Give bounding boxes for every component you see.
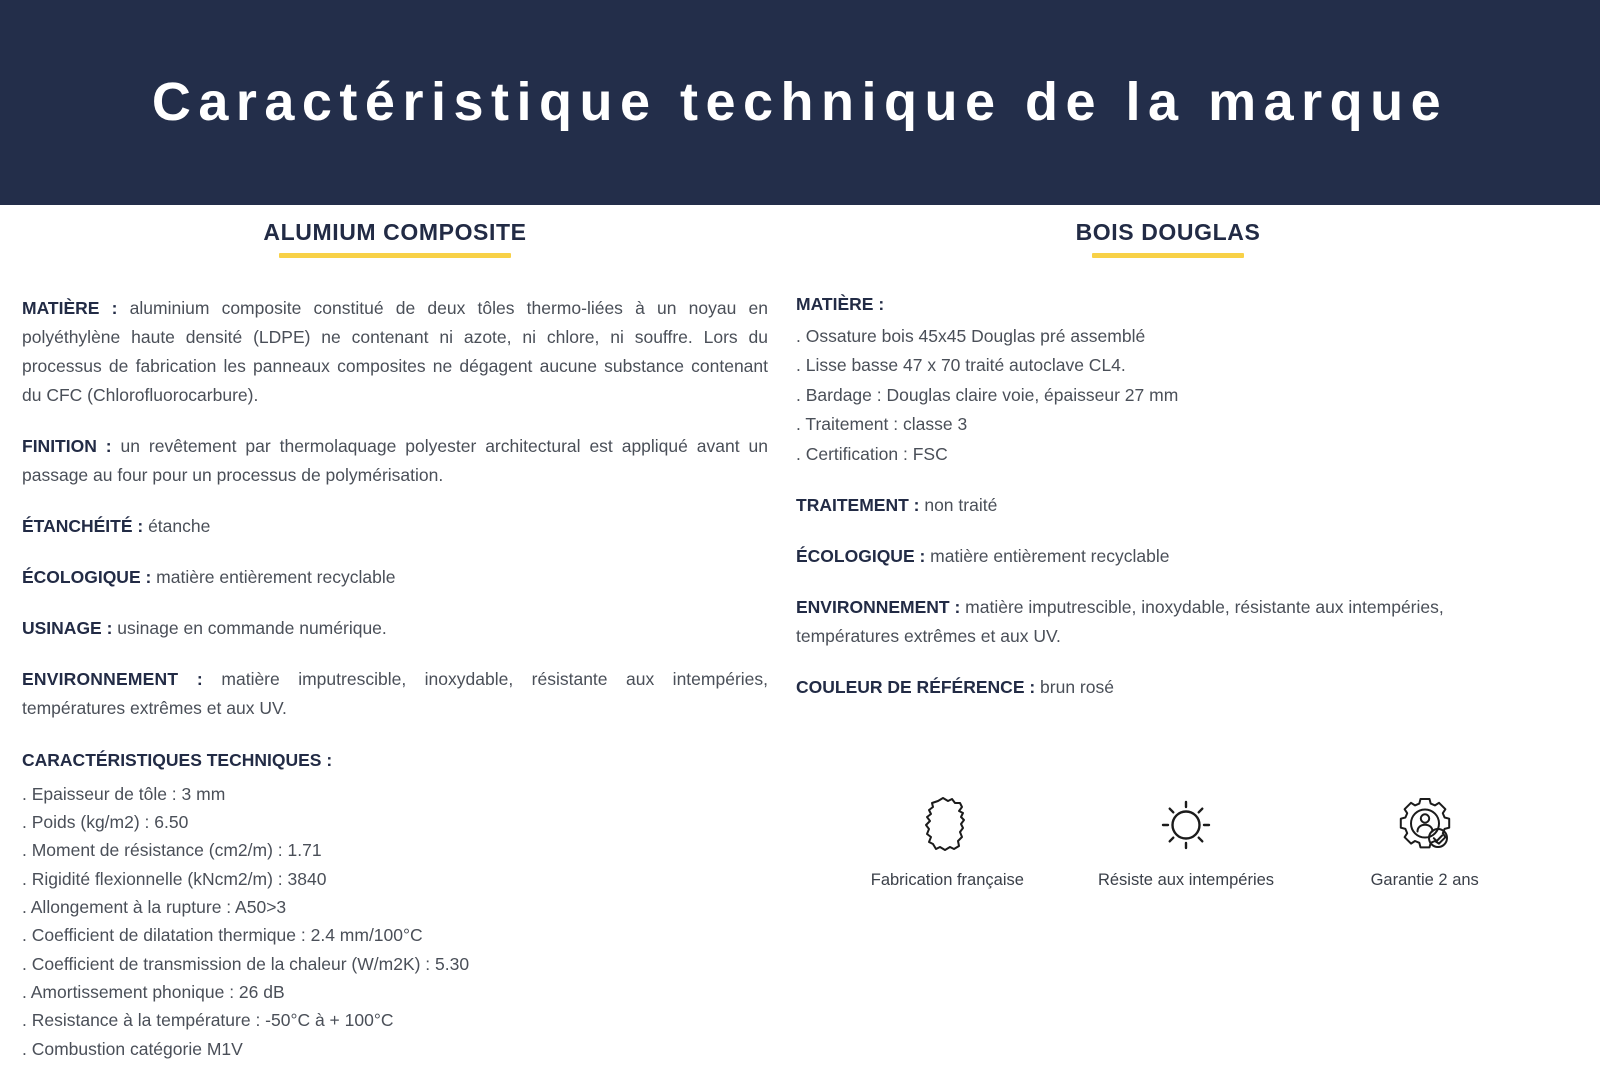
- right-column-heading: BOIS DOUGLAS: [796, 219, 1540, 268]
- badge-garantie-2-ans: Garantie 2 ans: [1315, 794, 1534, 891]
- left-column-heading: ALUMIUM COMPOSITE: [22, 219, 768, 268]
- matiere-block: MATIÈRE : aluminium composite constitué …: [22, 294, 768, 410]
- right-matiere-label: MATIÈRE :: [796, 290, 1540, 318]
- couleur-reference-label: COULEUR DE RÉFÉRENCE :: [796, 677, 1035, 697]
- column-alumium-composite: ALUMIUM COMPOSITE MATIÈRE : aluminium co…: [0, 205, 790, 1085]
- traitement-block: TRAITEMENT : non traité: [796, 491, 1540, 520]
- list-item: . Allongement à la rupture : A50>3: [22, 893, 768, 921]
- right-ecologique-text: matière entièrement recyclable: [925, 546, 1169, 566]
- list-item: . Epaisseur de tôle : 3 mm: [22, 780, 768, 808]
- column-bois-douglas: BOIS DOUGLAS MATIÈRE : . Ossature bois 4…: [790, 205, 1600, 1085]
- right-environnement-block: ENVIRONNEMENT : matière imputrescible, i…: [796, 593, 1540, 651]
- etancheite-label: ÉTANCHÉITÉ :: [22, 516, 143, 536]
- usinage-label: USINAGE :: [22, 618, 112, 638]
- usinage-text: usinage en commande numérique.: [112, 618, 386, 638]
- content-area: ALUMIUM COMPOSITE MATIÈRE : aluminium co…: [0, 205, 1600, 1085]
- list-item: . Combustion catégorie M1V: [22, 1035, 768, 1063]
- right-matiere-list: . Ossature bois 45x45 Douglas pré assemb…: [796, 322, 1540, 469]
- badge-resiste-intemperies: Résiste aux intempéries: [1077, 794, 1296, 891]
- badge-label: Fabrication française: [838, 870, 1057, 891]
- traitement-label: TRAITEMENT :: [796, 495, 919, 515]
- list-item: . Certification : FSC: [796, 440, 1540, 469]
- list-item: . Resistance à la température : -50°C à …: [22, 1006, 768, 1034]
- list-item: . Lisse basse 47 x 70 traité autoclave C…: [796, 351, 1540, 380]
- list-item: . Moment de résistance (cm2/m) : 1.71: [22, 836, 768, 864]
- environnement-block: ENVIRONNEMENT : matière imputrescible, i…: [22, 665, 768, 723]
- left-heading-underline: [279, 253, 511, 258]
- list-item: . Coefficient de transmission de la chal…: [22, 950, 768, 978]
- sun-icon: [1077, 794, 1296, 856]
- finition-block: FINITION : un revêtement par thermolaqua…: [22, 432, 768, 490]
- list-item: . Bardage : Douglas claire voie, épaisse…: [796, 381, 1540, 410]
- etancheite-text: étanche: [143, 516, 210, 536]
- couleur-reference-text: brun rosé: [1035, 677, 1114, 697]
- page-banner: Caractéristique technique de la marque: [0, 0, 1600, 205]
- right-column-heading-text: BOIS DOUGLAS: [1076, 219, 1261, 246]
- right-environnement-label: ENVIRONNEMENT :: [796, 597, 960, 617]
- right-heading-underline: [1092, 253, 1244, 258]
- finition-text: un revêtement par thermolaquage polyeste…: [22, 436, 768, 485]
- badge-row: Fabrication française: [838, 794, 1534, 891]
- couleur-reference-block: COULEUR DE RÉFÉRENCE : brun rosé: [796, 673, 1540, 702]
- usinage-block: USINAGE : usinage en commande numérique.: [22, 614, 768, 643]
- ecologique-label: ÉCOLOGIQUE :: [22, 567, 151, 587]
- finition-label: FINITION :: [22, 436, 112, 456]
- left-column-heading-text: ALUMIUM COMPOSITE: [263, 219, 526, 246]
- list-item: . Rigidité flexionnelle (kNcm2/m) : 3840: [22, 865, 768, 893]
- matiere-label: MATIÈRE :: [22, 298, 117, 318]
- environnement-label: ENVIRONNEMENT :: [22, 669, 203, 689]
- etancheite-block: ÉTANCHÉITÉ : étanche: [22, 512, 768, 541]
- traitement-text: non traité: [919, 495, 997, 515]
- caracteristiques-list: . Epaisseur de tôle : 3 mm . Poids (kg/m…: [22, 780, 768, 1063]
- right-ecologique-label: ÉCOLOGIQUE :: [796, 546, 925, 566]
- matiere-text: aluminium composite constitué de deux tô…: [22, 298, 768, 405]
- right-ecologique-block: ÉCOLOGIQUE : matière entièrement recycla…: [796, 542, 1540, 571]
- list-item: . Traitement : classe 3: [796, 410, 1540, 439]
- ecologique-text: matière entièrement recyclable: [151, 567, 395, 587]
- list-item: . Ossature bois 45x45 Douglas pré assemb…: [796, 322, 1540, 351]
- ecologique-block: ÉCOLOGIQUE : matière entièrement recycla…: [22, 563, 768, 592]
- caracteristiques-label: CARACTÉRISTIQUES TECHNIQUES :: [22, 746, 768, 774]
- list-item: . Coefficient de dilatation thermique : …: [22, 921, 768, 949]
- badge-label: Résiste aux intempéries: [1077, 870, 1296, 891]
- badge-label: Garantie 2 ans: [1315, 870, 1534, 891]
- list-item: . Poids (kg/m2) : 6.50: [22, 808, 768, 836]
- page-title: Caractéristique technique de la marque: [152, 73, 1448, 132]
- list-item: . Amortissement phonique : 26 dB: [22, 978, 768, 1006]
- france-map-icon: [838, 794, 1057, 856]
- badge-fabrication-francaise: Fabrication française: [838, 794, 1057, 891]
- warranty-gear-icon: [1315, 794, 1534, 856]
